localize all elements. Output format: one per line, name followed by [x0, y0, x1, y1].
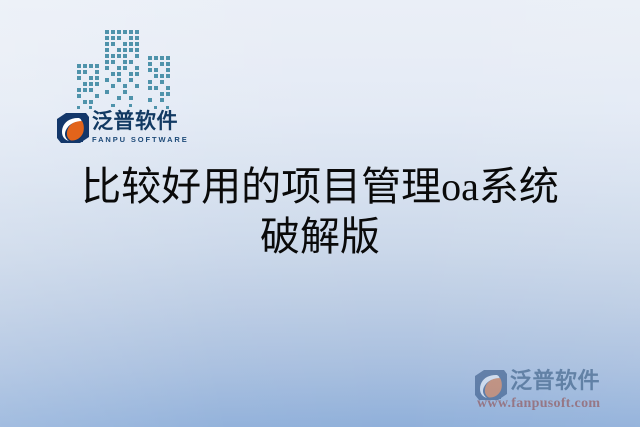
brand-name-cn: 泛普软件 [92, 110, 196, 134]
title-line-1: 比较好用的项目管理oa系统 [0, 162, 640, 212]
brand-name-group: 泛普软件 FANPU SOFTWARE [92, 110, 196, 145]
title-line-2: 破解版 [0, 212, 640, 262]
brand-block: 泛普软件 FANPU SOFTWARE [56, 22, 196, 148]
pixel-cityscape-icon [74, 22, 186, 114]
slide-title: 比较好用的项目管理oa系统 破解版 [0, 162, 640, 262]
slide-canvas: 泛普软件 FANPU SOFTWARE 比较好用的项目管理oa系统 破解版 泛普… [0, 0, 640, 427]
watermark: 泛普软件 www.fanpusoft.com [472, 367, 632, 419]
brand-logo-lockup: 泛普软件 FANPU SOFTWARE [56, 110, 196, 150]
watermark-url: www.fanpusoft.com [477, 395, 600, 413]
fanpu-logo-mark [56, 112, 90, 144]
brand-name-en: FANPU SOFTWARE [92, 134, 196, 145]
watermark-brand-name: 泛普软件 [510, 367, 600, 395]
